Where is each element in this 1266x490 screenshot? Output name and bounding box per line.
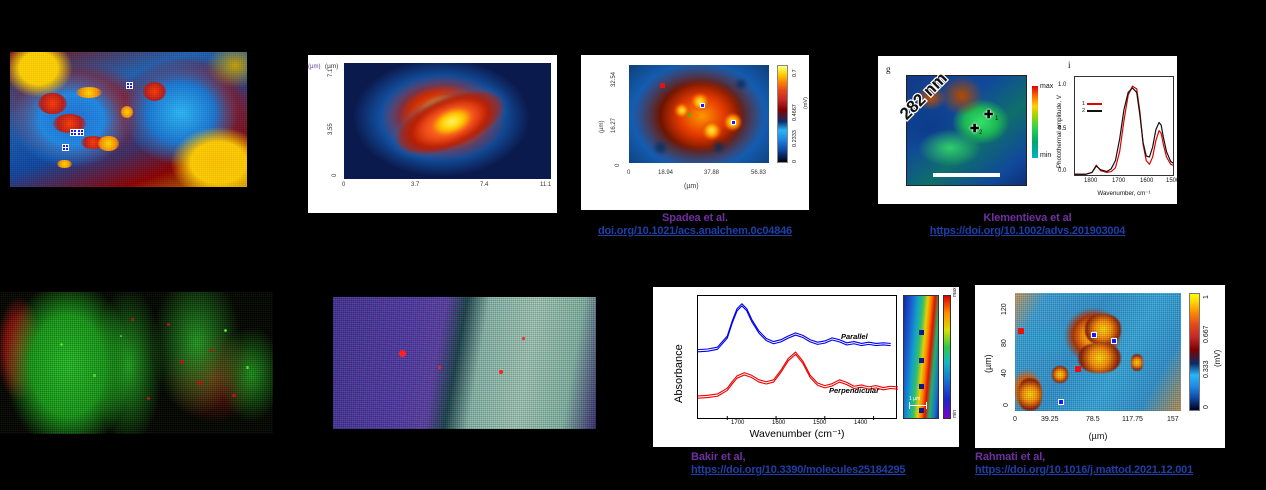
inset-scale-bar [909, 405, 927, 406]
ir-cell-map-noise [10, 52, 247, 187]
multispectral-red-dot [399, 350, 406, 357]
afmir-ytick-2: 7.1 [328, 69, 334, 77]
spadea-marker-blue [731, 120, 736, 125]
spadea-colorbar [777, 65, 788, 163]
panel-multispectral [333, 297, 596, 429]
klementieva-legend: 1 2 [1082, 100, 1102, 114]
bakir-annotation-perpendicular: Perpendicular [829, 386, 879, 395]
citation-klementieva: Klementieva et al https://doi.org/10.100… [878, 212, 1177, 238]
spadea-ytick-2: 32.54 [611, 72, 617, 87]
fluorescence-noise [0, 292, 273, 434]
colorbar-min-label: min [1040, 152, 1051, 159]
citation-rahmati: Rahmati et al, https://doi.org/10.1016/j… [975, 451, 1265, 477]
subpanel-letter-i: i [1068, 60, 1071, 70]
slide-canvas: 7.1 3.55 0 (µm) 0 3.7 7.4 11.1 (µm) + 32… [0, 0, 1266, 490]
citation-author: Bakir et al, [653, 451, 959, 464]
rahmati-cbar-tick-2: 0.667 [1203, 325, 1210, 343]
spadea-colorbar-ticks: 0 0.2333 0.4667 0.7 [790, 61, 812, 167]
panel-fluorescence [0, 292, 273, 434]
rahmati-colorbar-unit: (mV) [1213, 350, 1222, 367]
rahmati-marker-red [1018, 328, 1024, 334]
rahmati-ylabel: (µm) [983, 354, 993, 373]
rahmati-xtick-4: 157 [1167, 416, 1179, 423]
legend-label-2: 2 [1082, 108, 1085, 114]
rahmati-ytick-1: 40 [1001, 369, 1008, 377]
spadea-xtick-0: 0 [627, 170, 630, 176]
klementieva-xlabel: Wavenumber, cm⁻¹ [1074, 190, 1174, 197]
rahmati-xtick-2: 78.5 [1086, 416, 1100, 423]
afmir-xtick-2: 7.4 [480, 182, 488, 188]
spadea-marker-red [660, 83, 665, 88]
bakir-annotation-parallel: Parallel [841, 332, 868, 341]
spadea-ylabel: (µm) [599, 121, 605, 133]
spadea-map-image: + [629, 65, 769, 163]
bakir-inset-colorbar [943, 295, 951, 419]
panel-afmir-hotspot: 7.1 3.55 0 (µm) 0 3.7 7.4 11.1 (µm) [308, 55, 557, 213]
klementieva-ytick-0: 0.0 [1058, 168, 1066, 174]
rahmati-marker-blue [1111, 338, 1117, 344]
afmir-xtick-0: 0 [342, 182, 345, 188]
panel-spadea-map: + 32.54 16.27 0 (µm) 0 18.94 37.88 56.83… [581, 55, 809, 210]
spadea-cbar-tick-0: 0 [792, 160, 798, 163]
klementieva-ytick-1: 0.5 [1058, 126, 1066, 132]
spadea-xtick-3: 56.83 [751, 170, 766, 176]
measurement-marker [77, 129, 84, 136]
panel-ir-cell-map [10, 52, 247, 187]
colorbar-max-label: max [1040, 83, 1053, 90]
rahmati-cbar-tick-0: 0 [1203, 405, 1210, 409]
scale-bar [933, 173, 1000, 177]
legend-label-1: 1 [1082, 101, 1085, 107]
bakir-spectra-svg [698, 296, 898, 420]
citation-author: Rahmati et al, [975, 451, 1265, 464]
multispectral-red-dot [438, 366, 441, 369]
map-marker-label-2: 2 [979, 130, 982, 136]
spadea-colorbar-unit: (mV) [803, 97, 809, 109]
rahmati-map-image [1015, 293, 1181, 411]
klementieva-map-colorbar [1032, 86, 1038, 158]
spadea-marker-green: + [686, 111, 691, 120]
panel-bakir-spectra: Absorbance Wavenumber (cm⁻¹) 1700 1600 1… [653, 287, 959, 447]
bakir-xlabel: Wavenumber (cm⁻¹) [697, 428, 897, 440]
afmir-xtick-1: 3.7 [411, 182, 419, 188]
bakir-cbar-max: max [952, 288, 958, 297]
rahmati-xtick-3: 117.75 [1122, 416, 1143, 423]
rahmati-marker-red [1075, 366, 1081, 372]
afmir-ylabel: (µm) [308, 64, 320, 70]
multispectral-noise [333, 297, 596, 429]
spadea-ytick-0: 0 [615, 164, 621, 167]
afmir-hotspot-image [344, 63, 551, 179]
bakir-cbar-min: min [952, 410, 958, 418]
rahmati-marker-blue [1058, 399, 1064, 405]
map-marker-cross-1: ✚ [984, 110, 993, 121]
bakir-ylabel: Absorbance [673, 344, 685, 403]
subpanel-letter-g: g [886, 64, 891, 74]
citation-author: Spadea et al. [581, 212, 809, 225]
map-marker-cross-2: ✚ [970, 124, 979, 135]
bakir-xtick-2: 1500 [813, 420, 826, 426]
spadea-marker-blue [700, 103, 705, 108]
citation-author: Klementieva et al [878, 212, 1177, 225]
rahmati-ytick-3: 120 [1001, 303, 1008, 315]
rahmati-marker-blue [1091, 332, 1097, 338]
rahmati-cbar-tick-3: 1 [1203, 295, 1210, 299]
rahmati-ytick-2: 80 [1001, 339, 1008, 347]
spadea-xtick-1: 18.94 [658, 170, 673, 176]
spadea-xlabel: (µm) [684, 183, 699, 190]
klementieva-spectra-chart [1074, 76, 1174, 176]
spadea-ytick-1: 16.27 [611, 118, 617, 133]
measurement-marker [62, 144, 69, 151]
afmir-ytick-1: 3.55 [328, 123, 334, 135]
bakir-inset-map: 1 µm [903, 295, 939, 419]
bakir-plot-area [697, 295, 897, 419]
rahmati-xlabel: (µm) [1015, 431, 1181, 441]
afmir-xtick-3: 11.1 [540, 182, 551, 188]
panel-klementieva: g i 282 nm ✚ 1 ✚ 2 max min Photothermal … [878, 56, 1177, 204]
panel-rahmati-map: 120 80 40 0 (µm) 0 39.25 78.5 117.75 157… [975, 285, 1225, 448]
klementieva-ytick-2: 1.0 [1058, 82, 1066, 88]
measurement-marker [126, 82, 133, 89]
afmir-ytick-0: 0 [332, 174, 338, 177]
spadea-xtick-2: 37.88 [704, 170, 719, 176]
spadea-cbar-tick-1: 0.2333 [792, 130, 798, 147]
spadea-cbar-tick-3: 0.7 [792, 69, 798, 77]
klementieva-xtick-1: 1700 [1112, 178, 1125, 184]
legend-entry-1: 1 [1082, 100, 1102, 107]
citation-bakir: Bakir et al, https://doi.org/10.3390/mol… [653, 451, 959, 477]
rahmati-colorbar [1189, 293, 1200, 411]
citation-link[interactable]: https://doi.org/10.1002/advs.201903004 [878, 225, 1177, 238]
bakir-xtick-0: 1700 [731, 420, 744, 426]
klementieva-spectra-svg [1075, 77, 1174, 176]
rahmati-xtick-0: 0 [1013, 416, 1017, 423]
measurement-marker [70, 129, 77, 136]
citation-link[interactable]: https://doi.org/10.3390/molecules2518429… [653, 464, 959, 477]
citation-spadea: Spadea et al. doi.org/10.1021/acs.analch… [581, 212, 809, 238]
klementieva-xtick-0: 1800 [1084, 178, 1097, 184]
spadea-cbar-tick-2: 0.4667 [792, 104, 798, 121]
citation-link[interactable]: https://doi.org/10.1016/j.mattod.2021.12… [975, 464, 1265, 477]
map-marker-label-1: 1 [995, 116, 998, 122]
rahmati-xtick-1: 39.25 [1041, 416, 1059, 423]
bakir-xtick-3: 1400 [854, 420, 867, 426]
inset-scale-bar-label: 1 µm [909, 396, 920, 402]
legend-entry-2: 2 [1082, 107, 1102, 114]
citation-link[interactable]: doi.org/10.1021/acs.analchem.0c04846 [581, 225, 809, 238]
rahmati-cbar-tick-1: 0.333 [1203, 360, 1210, 378]
rahmati-ytick-0: 0 [1003, 403, 1010, 407]
multispectral-red-dot [499, 370, 503, 374]
klementieva-xtick-2: 1600 [1140, 178, 1153, 184]
bakir-xtick-1: 1600 [772, 420, 785, 426]
klementieva-xtick-3: 1500 [1166, 178, 1179, 184]
